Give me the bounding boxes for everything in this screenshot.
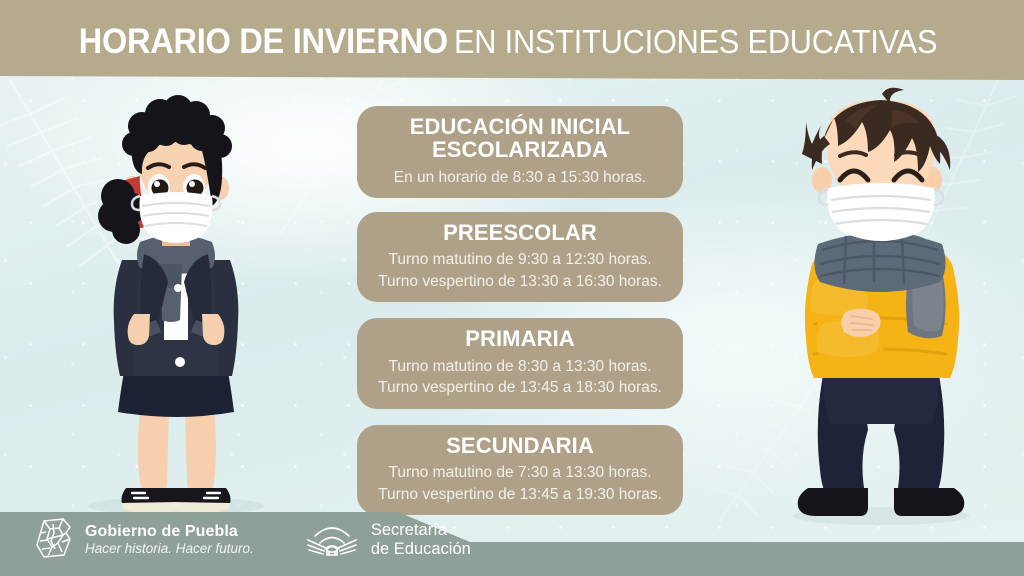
schedule-card-secundaria: SECUNDARIA Turno matutino de 7:30 a 13:3… [357, 425, 683, 515]
footer-logos: Gobierno de Puebla Hacer historia. Hacer… [30, 516, 471, 564]
secretaria-educacion-logo-group: Secretaría de Educación [306, 518, 471, 563]
gobierno-slogan: Hacer historia. Hacer futuro. [85, 541, 254, 556]
card-schedule-line: Turno vespertino de 13:30 a 16:30 horas. [371, 272, 669, 292]
secretaria-educacion-arch-icon [306, 518, 358, 563]
card-title: PREESCOLAR [371, 221, 669, 244]
page-title-light: EN INSTITUCIONES EDUCATIVAS [454, 23, 937, 61]
page-title: HORARIO DE INVIERNOEN INSTITUCIONES EDUC… [0, 22, 1024, 62]
card-schedule-line: Turno vespertino de 13:45 a 18:30 horas. [371, 378, 669, 398]
card-title: EDUCACIÓN INICIAL ESCOLARIZADA [371, 115, 669, 162]
page-title-bold: HORARIO DE INVIERNO [79, 22, 448, 62]
schedule-card-educacion-inicial: EDUCACIÓN INICIAL ESCOLARIZADA En un hor… [357, 106, 683, 198]
poster-canvas: HORARIO DE INVIERNOEN INSTITUCIONES EDUC… [0, 0, 1024, 576]
gobierno-name: Gobierno de Puebla [85, 523, 254, 541]
secretaria-line2: de Educación [371, 540, 471, 559]
card-schedule-line: Turno matutino de 8:30 a 13:30 horas. [371, 357, 669, 377]
card-schedule-line: Turno matutino de 7:30 a 13:30 horas. [371, 463, 669, 483]
schedule-card-list: EDUCACIÓN INICIAL ESCOLARIZADA En un hor… [357, 106, 683, 515]
secretaria-line1: Secretaría [371, 521, 471, 540]
card-schedule-line: Turno vespertino de 13:45 a 19:30 horas. [371, 485, 669, 505]
puebla-emblem-icon [30, 515, 76, 566]
illustration-girl-with-face-mask [56, 92, 296, 522]
card-title: PRIMARIA [371, 327, 669, 350]
card-title: SECUNDARIA [371, 434, 669, 457]
secretaria-educacion-text: Secretaría de Educación [371, 521, 471, 559]
card-schedule-line: Turno matutino de 9:30 a 12:30 horas. [371, 250, 669, 270]
schedule-card-primaria: PRIMARIA Turno matutino de 8:30 a 13:30 … [357, 318, 683, 408]
gobierno-de-puebla-text: Gobierno de Puebla Hacer historia. Hacer… [85, 523, 254, 556]
gobierno-de-puebla-logo-group: Gobierno de Puebla Hacer historia. Hacer… [30, 515, 254, 566]
illustration-boy-with-face-mask [756, 84, 1006, 534]
card-schedule-line: En un horario de 8:30 a 15:30 horas. [371, 168, 669, 188]
schedule-card-preescolar: PREESCOLAR Turno matutino de 9:30 a 12:3… [357, 212, 683, 302]
